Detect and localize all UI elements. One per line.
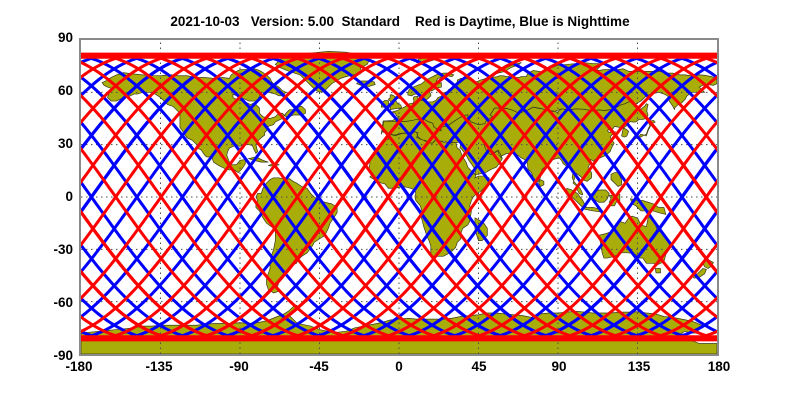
y-tick--30: -30 [27, 243, 73, 257]
y-tick--60: -60 [27, 296, 73, 310]
figure-title: 2021-10-03 Version: 5.00 Standard Red is… [0, 14, 800, 29]
x-tick--45: -45 [284, 360, 354, 374]
y-tick-60: 60 [27, 84, 73, 98]
plot-area [79, 38, 719, 356]
y-tick-30: 30 [27, 137, 73, 151]
y-tick-90: 90 [27, 31, 73, 45]
ground-track-map-figure: 2021-10-03 Version: 5.00 Standard Red is… [0, 0, 800, 400]
landmass-tasmania [655, 269, 660, 273]
x-tick-180: 180 [684, 360, 754, 374]
x-tick-0: 0 [364, 360, 434, 374]
y-tick-0: 0 [27, 190, 73, 204]
x-tick-90: 90 [524, 360, 594, 374]
x-tick-135: 135 [604, 360, 674, 374]
x-tick--90: -90 [204, 360, 274, 374]
x-tick-45: 45 [444, 360, 514, 374]
world-map-with-ground-tracks [81, 40, 717, 354]
x-tick--180: -180 [44, 360, 114, 374]
x-tick--135: -135 [124, 360, 194, 374]
